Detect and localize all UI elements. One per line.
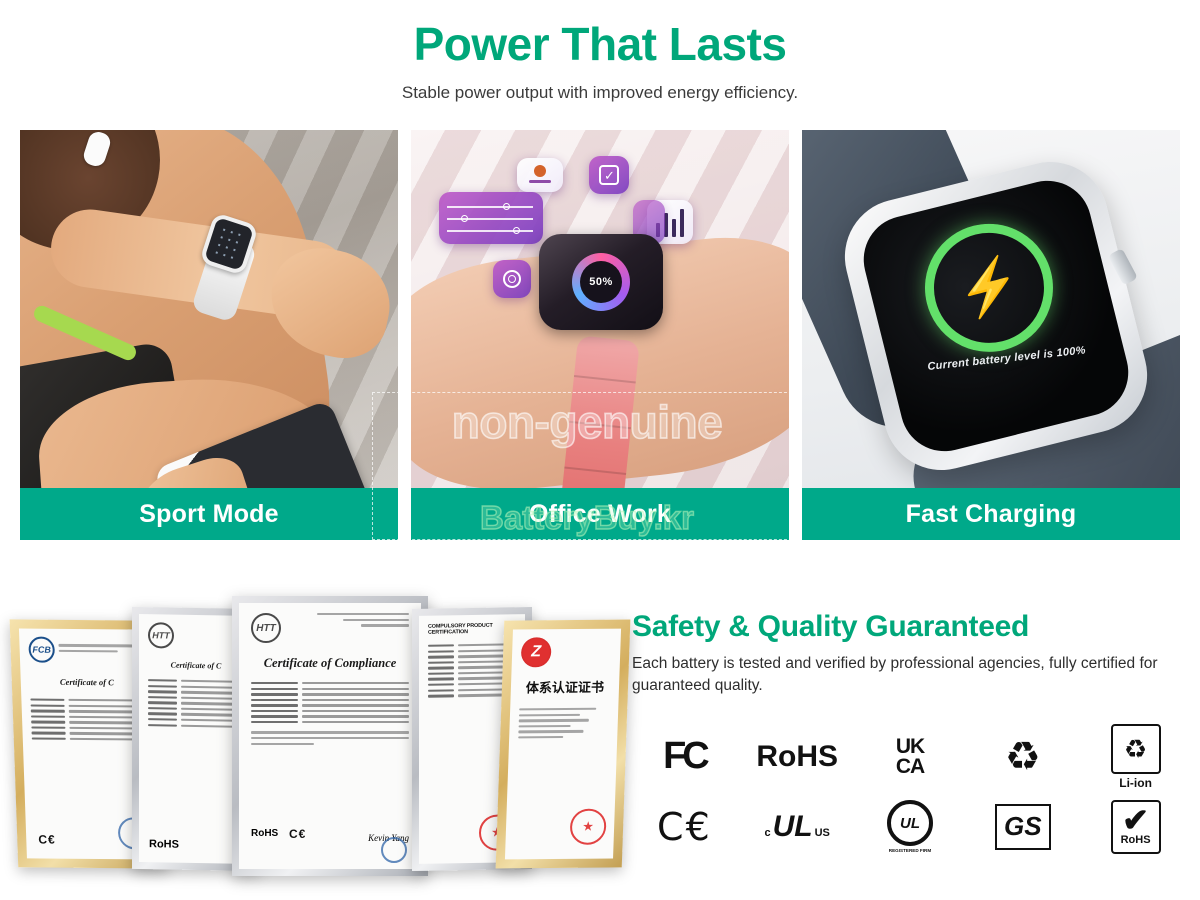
lower-section: FCB Certificate of C C€	[0, 566, 1200, 900]
ce-badge: C€	[632, 794, 737, 860]
ul-registered-badge: UL REGISTERED FIRM	[858, 794, 963, 860]
htt-logo-icon: HTT	[148, 622, 174, 648]
digital-crown	[1108, 248, 1138, 286]
check-icon: ✔	[1122, 808, 1149, 834]
card-label-office-work: Office Work	[411, 488, 789, 540]
watch-battery-value: 50%	[580, 261, 622, 303]
recycle-icon: ♻	[1124, 736, 1147, 762]
ukca-top: UK	[896, 737, 924, 757]
card-label-sport-mode: Sport Mode	[20, 488, 398, 540]
page-subtitle: Stable power output with improved energy…	[0, 83, 1200, 103]
certificate-title: 体系认证证书	[520, 677, 611, 697]
watch-app-grid-icon	[212, 225, 247, 263]
certificates-gallery: FCB Certificate of C C€	[14, 586, 604, 886]
activity-ring: 50%	[572, 253, 630, 311]
gs-badge: GS	[970, 794, 1075, 860]
charging-screen: ⚡ Current battery level is 100%	[854, 172, 1137, 461]
lightning-bolt-icon: ⚡	[951, 255, 1026, 321]
page-root: Power That Lasts Stable power output wit…	[0, 0, 1200, 900]
certificate-title: Certificate of Compliance	[251, 656, 409, 671]
gs-mark: GS	[995, 804, 1051, 850]
fcc-badge: FC	[632, 724, 737, 790]
feature-card-sport-mode[interactable]: Sport Mode	[20, 130, 398, 540]
band-seam	[569, 421, 631, 429]
checkbox-card-icon: ✓	[589, 156, 629, 194]
certificate-footer-title: RoHS	[251, 828, 278, 839]
badge-row-2: C€ c UL US UL REGISTERED FIRM	[632, 792, 1188, 862]
certificate-chinese-gold[interactable]: Z 体系认证证书 ★	[496, 620, 631, 869]
safety-title: Safety & Quality Guaranteed	[632, 610, 1188, 644]
ul-mark: UL	[887, 800, 933, 846]
settings-sliders-icon	[439, 192, 543, 244]
contact-card-icon	[517, 158, 563, 192]
htt-logo-icon: HTT	[251, 613, 281, 643]
page-title: Power That Lasts	[0, 18, 1200, 71]
feature-card-fast-charging[interactable]: ⚡ Current battery level is 100% Fast Cha…	[802, 130, 1180, 540]
red-stamp-icon: ★	[569, 809, 606, 845]
ukca-bottom: CA	[896, 757, 924, 777]
certification-badges: FC RoHS UK CA ♻ ♻ Li-ion	[632, 722, 1188, 862]
fingerprint-icon	[493, 260, 531, 298]
header: Power That Lasts Stable power output wit…	[0, 0, 1200, 103]
li-ion-recycle-badge: ♻ Li-ion	[1083, 724, 1188, 790]
fast-charging-photo: ⚡ Current battery level is 100%	[802, 130, 1180, 488]
badge-row-1: FC RoHS UK CA ♻ ♻ Li-ion	[632, 722, 1188, 792]
ul-caption: REGISTERED FIRM	[889, 848, 931, 853]
safety-description: Each battery is tested and verified by p…	[632, 653, 1188, 698]
fcb-logo-icon: FCB	[28, 637, 55, 663]
recycle-badge: ♻	[970, 724, 1075, 790]
safety-quality-section: Safety & Quality Guaranteed Each battery…	[632, 610, 1188, 862]
rohs-badge: RoHS	[745, 724, 850, 790]
certificate-main-compliance[interactable]: HTT Certificate of Compliance	[232, 596, 428, 876]
culus-prefix: c	[764, 827, 770, 839]
culus-suffix: US	[815, 827, 830, 839]
certificate-title: Certificate of C	[30, 677, 144, 688]
pink-smartwatch-face: 50%	[539, 234, 663, 330]
rohs-check-caption: RoHS	[1121, 834, 1151, 846]
culus-badge: c UL US	[745, 794, 850, 860]
ukca-badge: UK CA	[858, 724, 963, 790]
watch-screen	[204, 217, 254, 271]
china-cert-logo-icon: Z	[521, 637, 552, 667]
culus-mark: UL	[773, 810, 813, 844]
certificate-seal	[381, 837, 407, 863]
office-work-photo: ✓	[411, 130, 789, 488]
rohs-check-badge: ✔ RoHS	[1083, 794, 1188, 860]
li-ion-caption: Li-ion	[1119, 776, 1152, 790]
band-seam	[564, 467, 626, 475]
certificate-title: Certificate of C	[148, 660, 244, 671]
card-label-fast-charging: Fast Charging	[802, 488, 1180, 540]
feature-cards: Sport Mode ✓	[20, 130, 1180, 540]
sport-mode-photo	[20, 130, 398, 488]
feature-card-office-work[interactable]: ✓	[411, 130, 789, 540]
charging-ring: ⚡	[911, 210, 1066, 365]
band-seam	[574, 375, 636, 383]
